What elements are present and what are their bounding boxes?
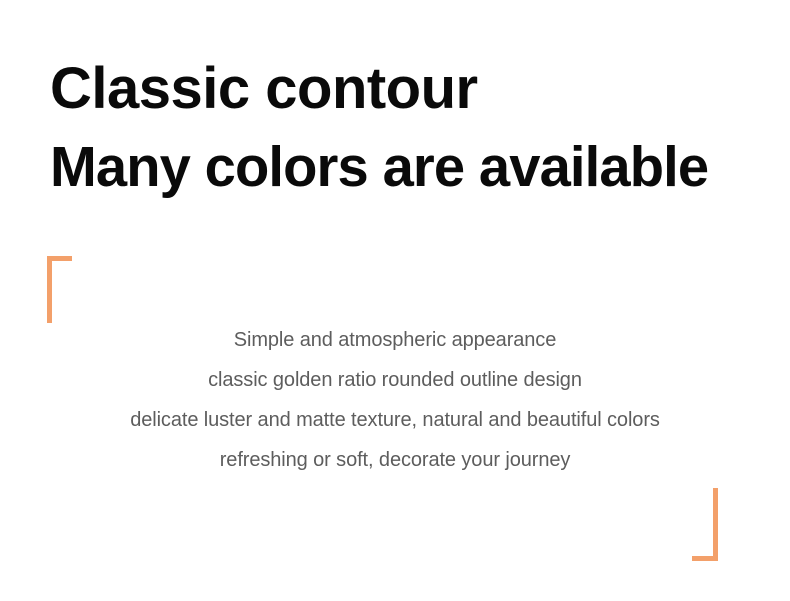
body-copy-block: Simple and atmospheric appearance classi… (45, 320, 745, 480)
headline-block: Classic contour Many colors are availabl… (50, 50, 770, 206)
body-line-1: Simple and atmospheric appearance (45, 320, 745, 360)
body-line-2: classic golden ratio rounded outline des… (45, 360, 745, 400)
slide-canvas: Classic contour Many colors are availabl… (0, 0, 790, 601)
body-line-3: delicate luster and matte texture, natur… (45, 400, 745, 440)
headline-line-2: Many colors are available (50, 128, 759, 206)
corner-bracket-bottom-right-icon (692, 488, 718, 561)
body-line-4: refreshing or soft, decorate your journe… (45, 440, 745, 480)
corner-bracket-top-left-icon (47, 256, 72, 323)
headline-line-1: Classic contour (50, 50, 770, 128)
